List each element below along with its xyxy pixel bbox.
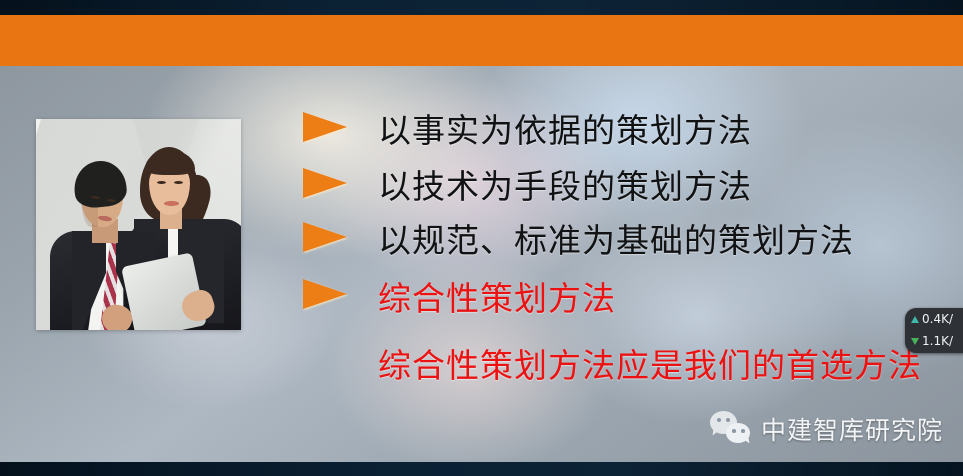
arrow-up-icon <box>911 316 919 323</box>
presentation-slide: 以事实为依据的策划方法 以技术为手段的策划方法 以规范、标准为基础的策划方法 综… <box>0 0 963 476</box>
upload-speed-row: 0.4K/ <box>905 308 963 330</box>
bullet-text-1: 以事实为依据的策划方法 <box>378 104 752 152</box>
triangle-bullet-icon-3 <box>303 222 347 252</box>
woman-fringe <box>145 151 195 175</box>
wechat-bubble-small-eye-left <box>732 429 736 433</box>
triangle-bullet-icon-4 <box>303 279 347 309</box>
woman-eye-left <box>157 181 166 184</box>
business-people-photo <box>36 119 241 330</box>
download-speed-value: 1.1K/ <box>922 334 953 348</box>
triangle-bullet-icon-2 <box>303 168 347 198</box>
wechat-logo-icon <box>710 411 752 447</box>
wechat-watermark: 中建智库研究院 <box>710 411 943 447</box>
bullet-text-2: 以技术为手段的策划方法 <box>378 160 752 208</box>
woman-eye-right <box>174 181 183 184</box>
watermark-label: 中建智库研究院 <box>761 411 943 447</box>
wechat-bubble-large-eye-left <box>717 418 721 422</box>
orange-header-band <box>0 15 963 66</box>
arrow-down-icon <box>911 338 919 345</box>
wechat-bubble-small-tail <box>743 438 750 445</box>
bullet-text-4: 综合性策划方法 <box>378 272 616 320</box>
bottom-letterbox-bar <box>0 462 963 476</box>
woman-mouth <box>164 201 179 206</box>
bullet-text-5: 综合性策划方法应是我们的首选方法 <box>378 339 922 387</box>
top-letterbox-bar <box>0 0 963 15</box>
download-speed-row: 1.1K/ <box>905 330 963 352</box>
network-speed-widget[interactable]: 0.4K/ 1.1K/ <box>905 308 963 353</box>
upload-speed-value: 0.4K/ <box>922 312 953 326</box>
wechat-bubble-large-tail <box>713 429 721 437</box>
bullet-text-3: 以规范、标准为基础的策划方法 <box>378 214 854 262</box>
wechat-bubble-small-eye-right <box>741 429 745 433</box>
triangle-bullet-icon-1 <box>303 112 347 142</box>
wechat-bubble-large-eye-right <box>726 418 730 422</box>
